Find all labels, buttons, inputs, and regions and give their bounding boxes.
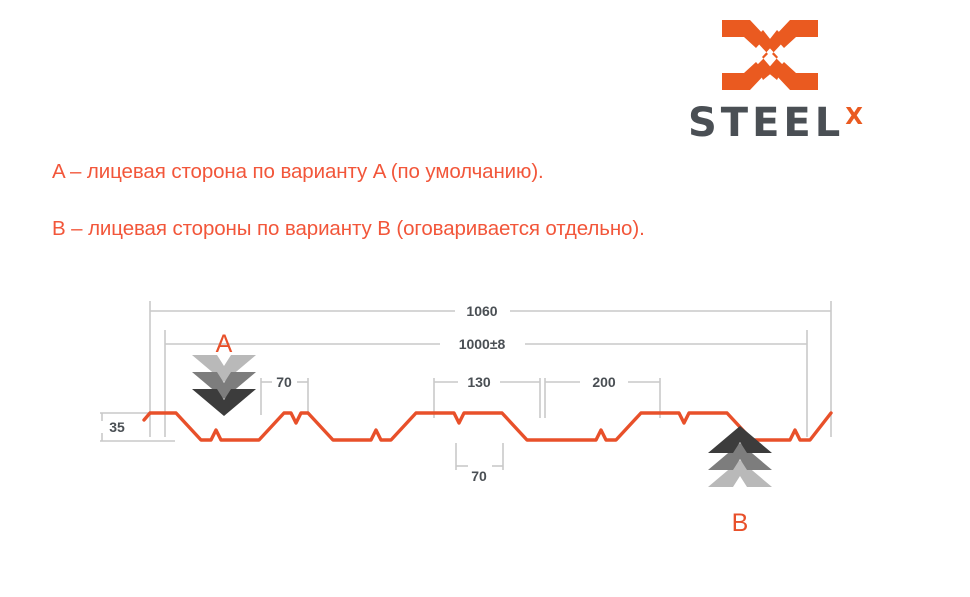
marker-a-chevrons — [192, 355, 256, 416]
dimension-label-top-flange: 70 — [276, 374, 292, 390]
dimension-label-effective-width: 1000±8 — [459, 336, 506, 352]
marker-b-chevrons — [708, 426, 772, 487]
dimension-label-module: 200 — [592, 374, 616, 390]
marker-label-a: A — [216, 330, 233, 358]
profile-outline — [144, 413, 831, 440]
dimension-bottom-flange — [456, 443, 503, 470]
dimension-label-bottom-flange: 70 — [471, 468, 487, 484]
marker-label-b: B — [732, 509, 749, 537]
profile-technical-drawing: 1060 1000±8 35 70 130 200 — [0, 0, 970, 597]
dimension-label-height: 35 — [109, 419, 125, 435]
dimension-label-rib-pitch: 130 — [467, 374, 491, 390]
dimension-label-overall-width: 1060 — [466, 303, 497, 319]
